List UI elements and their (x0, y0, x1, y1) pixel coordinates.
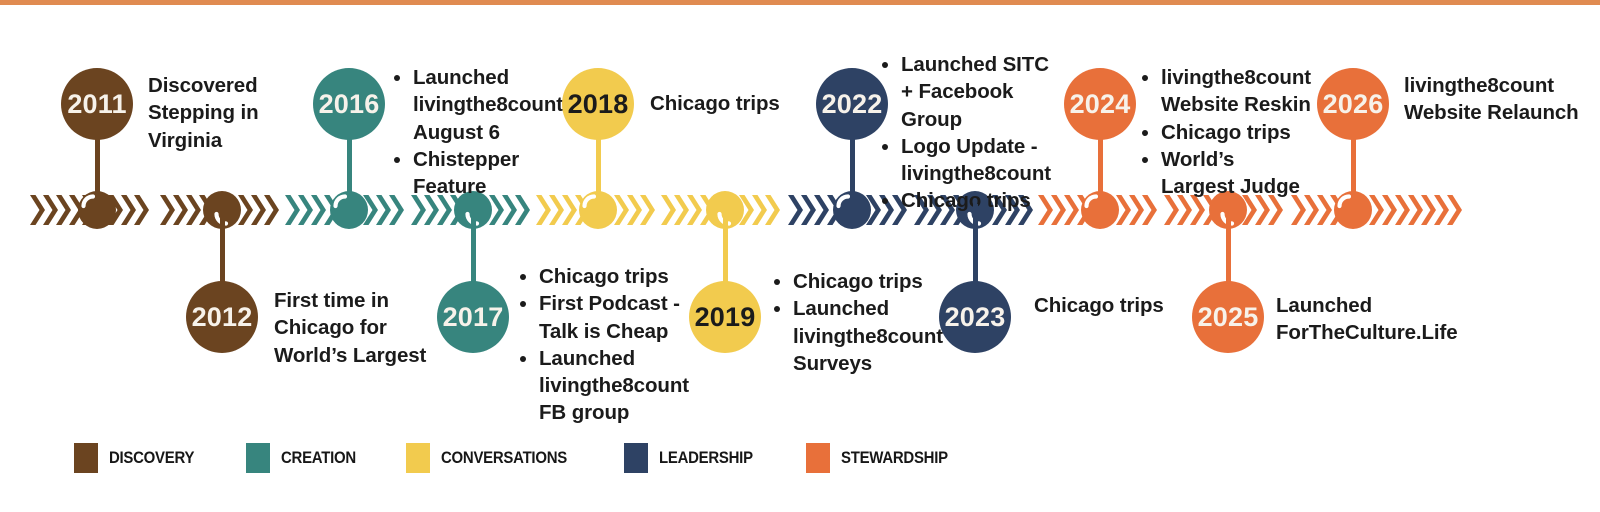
node-description-2022: Launched SITC + Facebook GroupLogo Updat… (880, 51, 1055, 215)
legend-item-creation[interactable]: CREATION (246, 443, 366, 473)
legend-label: CONVERSATIONS (441, 448, 567, 468)
node-description-2012: First time in Chicago for World’s Larges… (274, 287, 434, 369)
node-year-label: 2024 (1070, 91, 1131, 118)
timeline-node-2026[interactable]: 2026 (1317, 68, 1389, 140)
node-year-label: 2023 (945, 304, 1006, 331)
timeline-track (0, 185, 1600, 245)
node-description-text: Discovered Stepping in Virginia (148, 72, 318, 154)
chevron-icon (311, 195, 326, 225)
node-stem (850, 136, 855, 212)
legend-color-swatch (806, 443, 830, 473)
node-stem (1351, 136, 1356, 212)
node-description-2025: Launched ForTheCulture.Life (1276, 292, 1506, 347)
chevron-icon (788, 195, 803, 225)
legend-item-discovery[interactable]: DISCOVERY (74, 443, 206, 473)
timeline-node-2018[interactable]: 2018 (562, 68, 634, 140)
node-description-text: Chicago trips (1034, 292, 1194, 319)
legend-item-leadership[interactable]: LEADERSHIP (624, 443, 766, 473)
node-year-label: 2022 (822, 91, 883, 118)
chevron-icon (376, 195, 391, 225)
node-bullet-list: livingthe8count Website ReskinChicago tr… (1140, 64, 1312, 200)
timeline-node-2017[interactable]: 2017 (437, 281, 509, 353)
node-stem (95, 136, 100, 212)
legend-color-swatch (74, 443, 98, 473)
chevron-icon (251, 195, 266, 225)
node-bullet-item: Launched livingthe8count Surveys (793, 295, 937, 377)
timeline-node-2016[interactable]: 2016 (313, 68, 385, 140)
chevron-icon (1382, 195, 1397, 225)
chevron-icon (173, 195, 188, 225)
node-stem (723, 204, 728, 285)
chevron-icon (285, 195, 300, 225)
node-year-label: 2011 (67, 91, 126, 118)
chevron-icon (1421, 195, 1436, 225)
timeline-node-2023[interactable]: 2023 (939, 281, 1011, 353)
node-bullet-item: Logo Update - livingthe8count (901, 133, 1055, 188)
chevron-icon (186, 195, 201, 225)
chevron-icon (264, 195, 279, 225)
chevron-icon (1408, 195, 1423, 225)
chevron-icon (30, 195, 45, 225)
top-accent-bar (0, 0, 1600, 5)
node-bullet-item: Chicago trips (793, 268, 937, 295)
node-bullet-item: Chistepper Feature (413, 146, 592, 201)
node-bullet-list: Chicago tripsFirst Podcast - Talk is Che… (518, 263, 683, 427)
node-year-label: 2012 (192, 304, 253, 331)
node-description-2023: Chicago trips (1034, 292, 1194, 319)
chevron-icon (765, 195, 780, 225)
node-bullet-list: Launched livingthe8count August 6Chistep… (392, 64, 592, 200)
node-bullet-item: livingthe8count Website Reskin (1161, 64, 1312, 119)
legend-label: STEWARDSHIP (841, 448, 948, 468)
legend-label: DISCOVERY (109, 448, 194, 468)
node-year-label: 2017 (443, 304, 504, 331)
node-stem (1226, 204, 1231, 285)
chevron-icon (640, 195, 655, 225)
node-description-text: First time in Chicago for World’s Larges… (274, 287, 434, 369)
chevron-icon (43, 195, 58, 225)
chevron-icon (56, 195, 71, 225)
timeline-track-svg (0, 185, 1600, 245)
node-description-2011: Discovered Stepping in Virginia (148, 72, 318, 154)
node-bullet-item: Launched SITC + Facebook Group (901, 51, 1055, 133)
node-description-text: livingthe8count Website Relaunch (1404, 72, 1584, 127)
node-description-2024: livingthe8count Website ReskinChicago tr… (1140, 64, 1312, 200)
chevron-icon (1395, 195, 1410, 225)
legend-label: CREATION (281, 448, 356, 468)
chevron-icon (752, 195, 767, 225)
node-year-label: 2025 (1198, 304, 1259, 331)
timeline-node-2025[interactable]: 2025 (1192, 281, 1264, 353)
legend-item-conversations[interactable]: CONVERSATIONS (406, 443, 584, 473)
chevron-icon (801, 195, 816, 225)
legend-color-swatch (624, 443, 648, 473)
timeline-infographic: 2011Discovered Stepping in Virginia2012F… (0, 0, 1600, 512)
chevron-icon (121, 195, 136, 225)
timeline-node-2011[interactable]: 2011 (61, 68, 133, 140)
legend-item-stewardship[interactable]: STEWARDSHIP (806, 443, 962, 473)
chevron-icon (1434, 195, 1449, 225)
node-bullet-item: Launched livingthe8count FB group (539, 345, 683, 427)
chevron-icon (627, 195, 642, 225)
node-year-label: 2026 (1323, 91, 1384, 118)
node-bullet-item: Chicago trips (1161, 119, 1312, 146)
legend-label: LEADERSHIP (659, 448, 753, 468)
node-description-2017: Chicago tripsFirst Podcast - Talk is Che… (518, 263, 683, 427)
node-bullet-item: Chicago trips (901, 187, 1055, 214)
chevron-icon (687, 195, 702, 225)
node-stem (1098, 136, 1103, 212)
timeline-node-2012[interactable]: 2012 (186, 281, 258, 353)
node-stem (973, 204, 978, 285)
node-bullet-list: Chicago tripsLaunched livingthe8count Su… (772, 268, 937, 377)
legend-color-swatch (406, 443, 430, 473)
chevron-icon (661, 195, 676, 225)
node-description-2026: livingthe8count Website Relaunch (1404, 72, 1584, 127)
node-stem (596, 136, 601, 212)
node-description-2018: Chicago trips (650, 90, 810, 117)
timeline-node-2019[interactable]: 2019 (689, 281, 761, 353)
node-year-label: 2018 (568, 91, 629, 118)
node-year-label: 2019 (695, 304, 756, 331)
node-bullet-item: First Podcast - Talk is Cheap (539, 290, 683, 345)
node-description-2019: Chicago tripsLaunched livingthe8count Su… (772, 268, 937, 377)
node-description-text: Launched ForTheCulture.Life (1276, 292, 1506, 347)
chevron-icon (1447, 195, 1462, 225)
node-bullet-item: Chicago trips (539, 263, 683, 290)
track-segment (1291, 195, 1462, 225)
node-bullet-list: Launched SITC + Facebook GroupLogo Updat… (880, 51, 1055, 215)
node-description-2016: Launched livingthe8count August 6Chistep… (392, 64, 592, 200)
chevron-icon (1317, 195, 1332, 225)
chevron-icon (134, 195, 149, 225)
node-bullet-item: World’s Largest Judge (1161, 146, 1312, 201)
node-stem (471, 204, 476, 285)
timeline-node-2022[interactable]: 2022 (816, 68, 888, 140)
node-description-text: Chicago trips (650, 90, 810, 117)
legend-color-swatch (246, 443, 270, 473)
node-stem (347, 136, 352, 212)
chevron-icon (298, 195, 313, 225)
node-stem (220, 204, 225, 285)
chevron-icon (160, 195, 175, 225)
chevron-icon (814, 195, 829, 225)
node-year-label: 2016 (319, 91, 380, 118)
legend: DISCOVERYCREATIONCONVERSATIONSLEADERSHIP… (74, 443, 1002, 473)
timeline-node-2024[interactable]: 2024 (1064, 68, 1136, 140)
chevron-icon (1064, 195, 1079, 225)
chevron-icon (674, 195, 689, 225)
